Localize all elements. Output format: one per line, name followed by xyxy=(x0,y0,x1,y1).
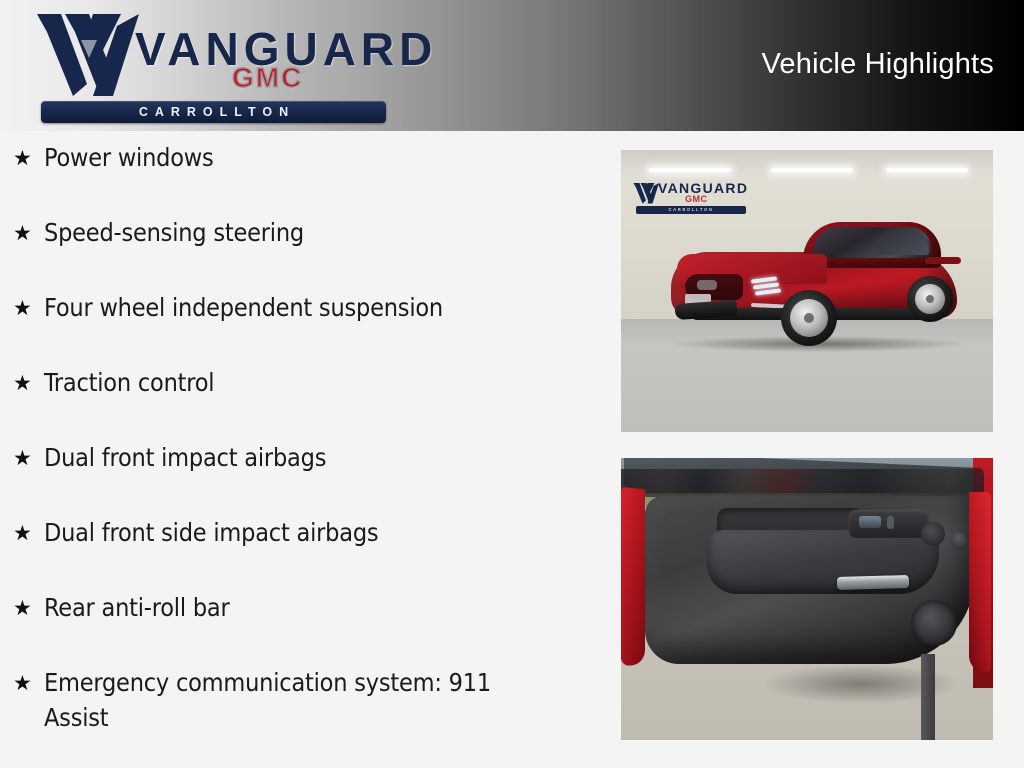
list-item-label: Dual front side impact airbags xyxy=(44,515,378,550)
door-tweeter-icon xyxy=(951,532,968,549)
door-lock-switch-icon[interactable] xyxy=(887,516,894,529)
star-bullet-icon: ★ xyxy=(13,290,44,328)
star-bullet-icon: ★ xyxy=(13,140,44,178)
list-item: ★ Dual front impact airbags xyxy=(0,440,600,515)
star-bullet-icon: ★ xyxy=(13,365,44,403)
ceiling-light-icon xyxy=(771,168,853,172)
door-mid-speaker-icon xyxy=(921,522,945,546)
list-item: ★ Speed-sensing steering xyxy=(0,215,600,290)
door-edge-right xyxy=(969,492,991,672)
ceiling-light-icon xyxy=(886,168,968,172)
list-item: ★ Emergency communication system: 911 As… xyxy=(0,665,600,735)
vehicle-exterior-photo[interactable]: VANGUARD GMC CARROLLTON xyxy=(621,150,993,432)
door-edge-left xyxy=(621,487,645,668)
pony-badge-icon xyxy=(697,280,717,290)
vehicle-door-panel-photo[interactable] xyxy=(621,458,993,740)
logo-location-text: CARROLLTON xyxy=(41,101,386,123)
ceiling-light-icon xyxy=(649,168,731,172)
page-header: VANGUARD GMC CARROLLTON Vehicle Highligh… xyxy=(0,0,1024,131)
rear-wheel xyxy=(907,276,953,322)
front-wheel xyxy=(781,290,837,346)
list-item-label: Dual front impact airbags xyxy=(44,440,326,475)
front-hub xyxy=(804,313,814,323)
page-title: Vehicle Highlights xyxy=(761,48,994,81)
star-bullet-icon: ★ xyxy=(13,590,44,628)
star-bullet-icon: ★ xyxy=(13,215,44,253)
window-switch-icon[interactable] xyxy=(859,516,881,528)
wall-sign-gmc-text: GMC xyxy=(685,195,708,204)
logo-gmc-text: GMC xyxy=(232,64,303,92)
mustang-illustration xyxy=(663,208,963,358)
star-bullet-icon: ★ xyxy=(13,665,44,703)
rear-hub xyxy=(926,295,934,303)
logo-location-bar: CARROLLTON xyxy=(41,101,386,123)
wall-sign-wordmark: VANGUARD xyxy=(658,181,748,195)
list-item-label: Four wheel independent suspension xyxy=(44,290,443,325)
door-support-post xyxy=(921,654,935,740)
star-bullet-icon: ★ xyxy=(13,515,44,553)
list-item-label: Speed-sensing steering xyxy=(44,215,304,250)
list-item: ★ Power windows xyxy=(0,140,600,215)
list-item: ★ Four wheel independent suspension xyxy=(0,290,600,365)
list-item-label: Emergency communication system: 911 Assi… xyxy=(44,665,544,735)
door-speaker-icon xyxy=(911,600,957,646)
car-spoiler xyxy=(925,257,961,264)
list-item-label: Power windows xyxy=(44,140,214,175)
list-item: ★ Traction control xyxy=(0,365,600,440)
vanguard-w-mark-icon xyxy=(35,10,147,98)
list-item: ★ Dual front side impact airbags xyxy=(0,515,600,590)
star-bullet-icon: ★ xyxy=(13,440,44,478)
list-item-label: Traction control xyxy=(44,365,214,400)
list-item-label: Rear anti-roll bar xyxy=(44,590,230,625)
car-side-window xyxy=(877,230,929,255)
dealer-logo: VANGUARD GMC CARROLLTON xyxy=(35,8,395,124)
interior-door-handle[interactable] xyxy=(837,575,909,590)
list-item: ★ Rear anti-roll bar xyxy=(0,590,600,665)
vehicle-highlights-list: ★ Power windows ★ Speed-sensing steering… xyxy=(0,140,600,735)
